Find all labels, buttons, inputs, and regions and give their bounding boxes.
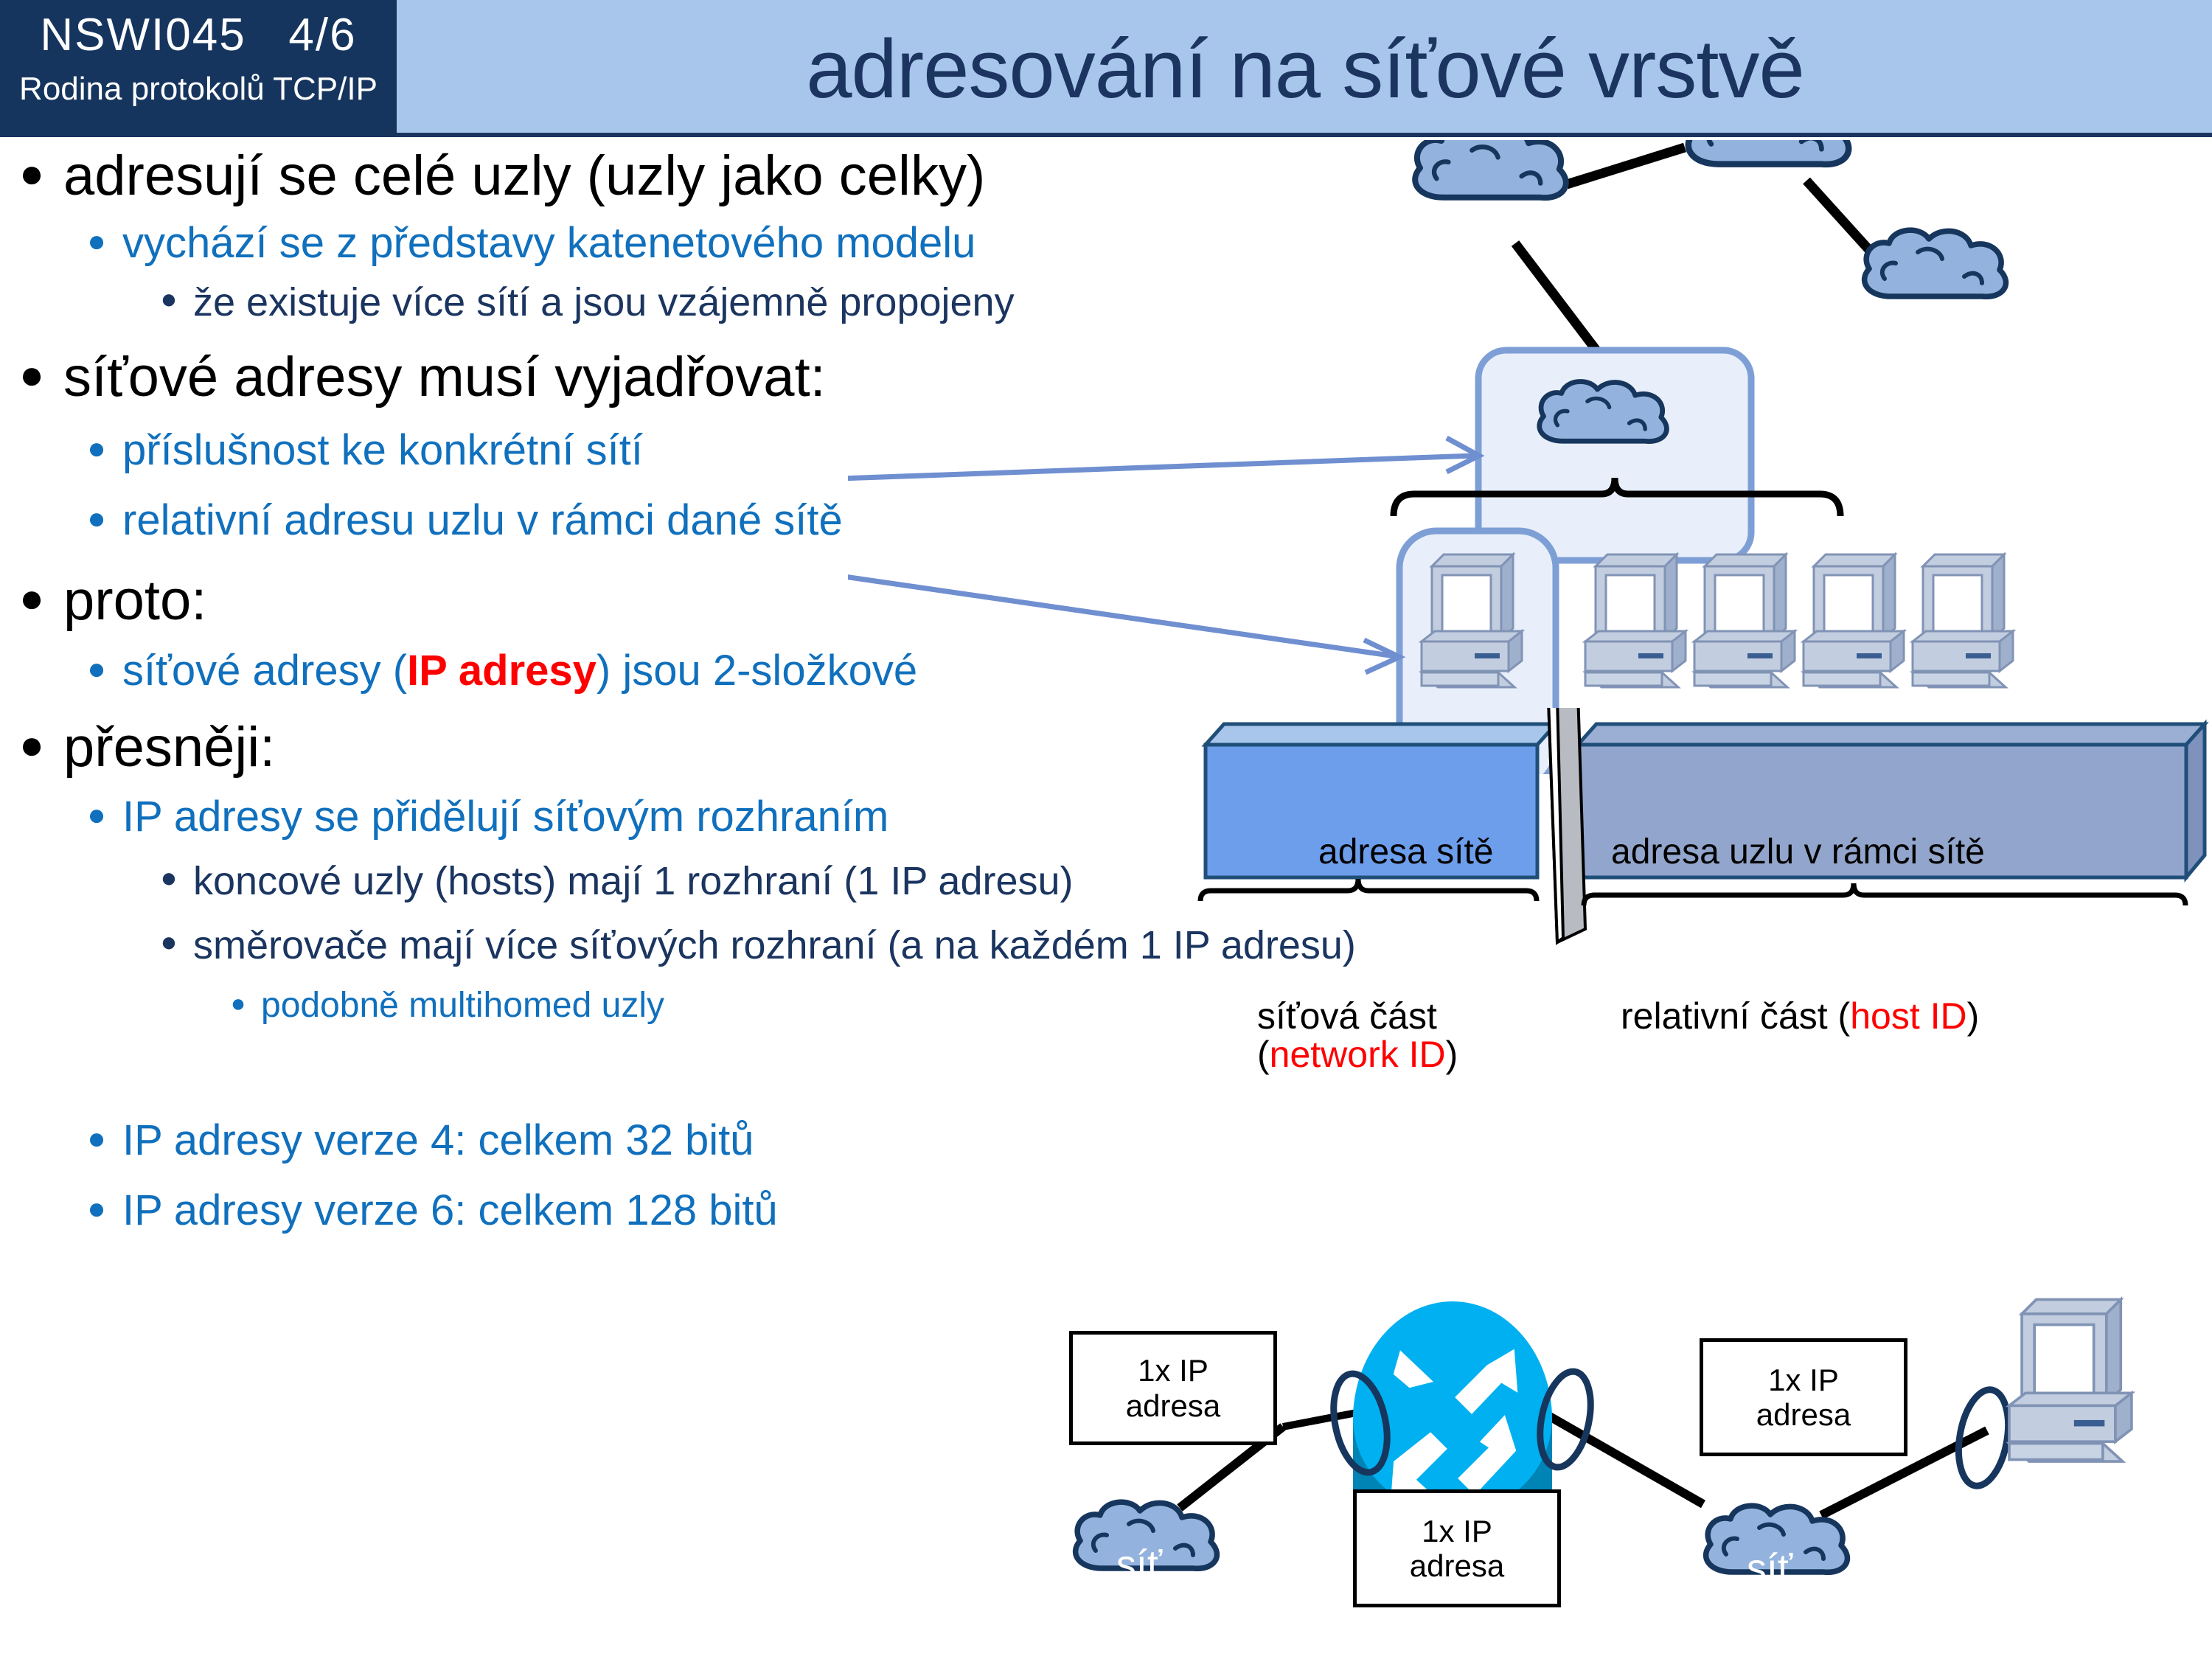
address-separator-plate [1548,708,1585,942]
link-cloud1-cloud2 [1567,147,1685,184]
cloud-right-label: síť [1747,1546,1793,1590]
catenet-topology-diagram [848,140,2212,774]
bullet-marker: ● [215,987,261,1020]
bullet-text: IP adresy se přidělují síťovým rozhraním [122,795,1283,840]
end-host-computer [2009,1299,2132,1461]
bullet-marker: ● [145,860,193,897]
bullet-marker: ● [71,795,122,835]
network-id-term: network ID [1270,1034,1446,1075]
cloud-left-label: síť [1116,1543,1163,1587]
bullet-level2: ● IP adresy se přidělují síťovým rozhran… [71,795,1283,840]
bullet-text: podobně multihomed uzly [261,987,1283,1024]
bullet-marker: ● [71,498,122,538]
callout-right-line2: adresa [1756,1397,1851,1432]
course-badge: NSWI045 4/6 Rodina protokolů TCP/IP [0,0,397,137]
bullet-marker: ● [0,719,63,771]
bullet-marker: ● [145,925,193,961]
slide-header: NSWI045 4/6 Rodina protokolů TCP/IP adre… [0,0,2212,137]
callout-box-left-interface: 1x IP adresa [1069,1331,1277,1445]
bullet-text: IP adresy verze 4: celkem 32 bitů [122,1119,1283,1164]
paren-close: ) [1967,995,1980,1037]
host-part-caption: relativní část (host ID) [1621,997,1979,1035]
bullet-text-part-highlight: IP adresy [407,647,597,695]
network-part-caption-line2: (network ID) [1257,1035,1458,1074]
host-computer [1694,554,1795,687]
callout-line-relative-address [848,569,1395,656]
bullet-marker: ● [0,572,63,624]
host-part-prefix: relativní část ( [1621,995,1850,1037]
host-segment-label: adresa uzlu v rámci sítě [1611,832,1985,872]
network-segment-label: adresa sítě [1318,832,1493,872]
callout-arrows [848,438,1479,672]
bullet-level2: ● IP adresy verze 4: celkem 32 bitů [71,1119,1283,1164]
bullet-marker: ● [71,649,122,689]
host-part-caption-line: relativní část (host ID) [1621,997,1979,1035]
paren-close: ) [1446,1034,1458,1075]
cloud-network-top [1688,140,1848,164]
network-part-caption: síťová část (network ID) [1257,997,1458,1074]
bullet-marker: ● [0,147,63,199]
interface-marker-host [1952,1385,2015,1489]
bullet-text-part-plain: síťové adresy ( [122,647,407,695]
slide-title: adresování na síťové vrstvě [413,4,2197,133]
bullet-marker: ● [71,428,122,468]
bullet-marker: ● [71,221,122,261]
link-router-left-port [1283,1412,1360,1427]
callout-line-network-membership [848,456,1475,481]
bullet-marker: ● [71,1119,122,1158]
host-computer [1422,554,1522,687]
bullet-marker: ● [0,349,63,400]
host-id-term: host ID [1850,995,1966,1037]
host-computer-group [1422,554,2013,687]
network-part-caption-line1: síťová část [1257,997,1458,1035]
topology-links [1515,147,1877,375]
bullet-marker: ● [145,282,193,318]
bullet-level2: ● IP adresy verze 6: celkem 128 bitů [71,1189,1283,1234]
callout-right-line1: 1x IP [1768,1363,1839,1397]
callout-middle-line2: adresa [1410,1548,1504,1583]
callout-middle-line1: 1x IP [1422,1514,1492,1548]
link-cloud2-cloud3 [1806,181,1877,258]
paren-open: ( [1257,1034,1270,1075]
cloud-network-right [1865,230,2006,296]
callout-box-host-interface: 1x IP adresa [1700,1338,1907,1456]
callout-left-line2: adresa [1126,1388,1220,1423]
host-computer [1913,554,2013,687]
course-name: Rodina protokolů TCP/IP [0,71,397,108]
course-code: NSWI045 4/6 [0,9,397,61]
bullet-level4: ● podobně multihomed uzly [215,987,1283,1024]
bullet-marker: ● [71,1189,122,1228]
host-computer [1585,554,1686,687]
bullet-text: IP adresy verze 6: celkem 128 bitů [122,1189,1283,1234]
brace-network [1200,879,1537,901]
callout-box-middle-interface: 1x IP adresa [1353,1489,1561,1607]
brace-host [1584,883,2185,905]
host-computer [1804,554,1904,687]
callout-left-line1: 1x IP [1138,1353,1208,1388]
cloud-network-left [1415,140,1566,198]
